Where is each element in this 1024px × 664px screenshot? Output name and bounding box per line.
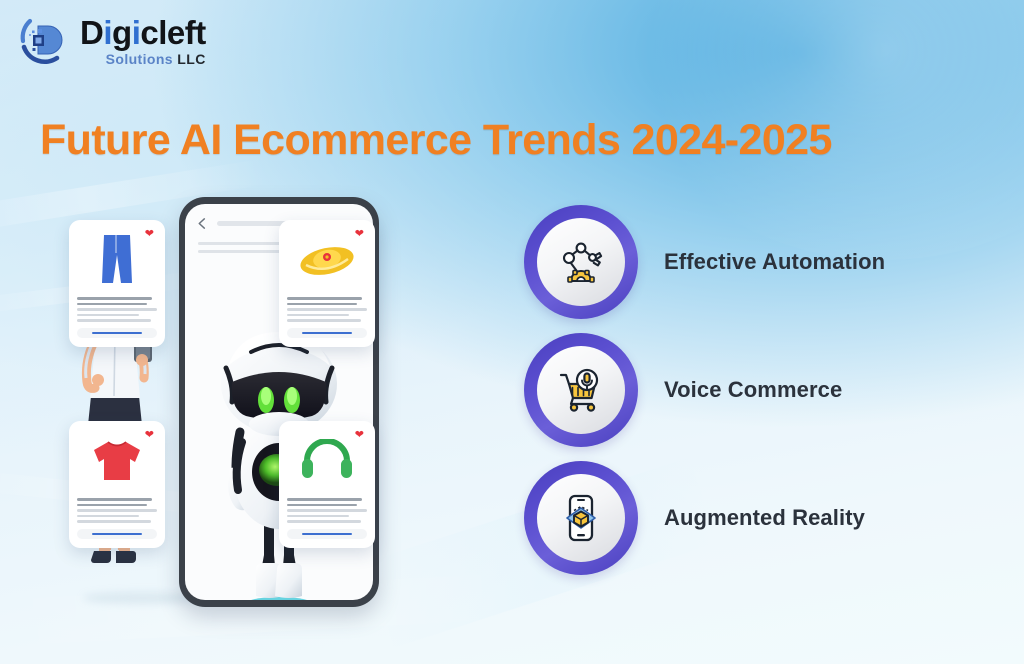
feature-item-effective-automation[interactable]: Effective Automation: [524, 205, 1014, 319]
brand-tagline: Solutions LLC: [80, 52, 206, 66]
product-text-lines: [287, 498, 367, 523]
product-thumbnail: ❤: [287, 228, 367, 290]
product-action-button[interactable]: [287, 328, 367, 338]
feature-label: Voice Commerce: [664, 377, 842, 403]
feature-label: Augmented Reality: [664, 505, 865, 531]
product-card-blue-jeans[interactable]: ❤: [69, 220, 165, 347]
sweater-icon: [88, 438, 146, 482]
product-thumbnail: ❤: [287, 429, 367, 491]
heart-icon[interactable]: ❤: [355, 430, 364, 441]
brand-wordmark: Digicleft Solutions LLC: [80, 14, 206, 66]
product-card-red-sweater[interactable]: ❤: [69, 421, 165, 548]
back-arrow-icon[interactable]: [196, 217, 209, 230]
feature-icon-ring: [524, 461, 638, 575]
digicleft-circular-d-logo-icon: [16, 12, 72, 68]
product-action-button[interactable]: [287, 529, 367, 539]
phone-ar-cube-icon: [537, 474, 625, 562]
product-action-button[interactable]: [77, 529, 157, 539]
brand-logo[interactable]: Digicleft Solutions LLC: [16, 12, 206, 68]
hero-illustration: ❤ ❤: [55, 180, 475, 620]
shopping-cart-microphone-icon: [537, 346, 625, 434]
heart-icon[interactable]: ❤: [145, 430, 154, 441]
page-title: Future AI Ecommerce Trends 2024-2025: [40, 116, 990, 165]
feature-item-augmented-reality[interactable]: Augmented Reality: [524, 461, 1014, 575]
feature-label: Effective Automation: [664, 249, 885, 275]
jeans-icon: [97, 233, 137, 285]
product-text-lines: [77, 498, 157, 523]
headphones-icon: [300, 439, 354, 481]
robotic-arm-gear-icon: [537, 218, 625, 306]
product-thumbnail: ❤: [77, 429, 157, 491]
heart-icon[interactable]: ❤: [355, 229, 364, 240]
product-text-lines: [287, 297, 367, 322]
sun-hat-icon: [298, 239, 356, 279]
product-action-button[interactable]: [77, 328, 157, 338]
product-card-green-headphones[interactable]: ❤: [279, 421, 375, 548]
product-card-yellow-sun-hat[interactable]: ❤: [279, 220, 375, 347]
feature-icon-ring: [524, 205, 638, 319]
product-thumbnail: ❤: [77, 228, 157, 290]
heart-icon[interactable]: ❤: [145, 229, 154, 240]
feature-list: Effective Automation: [524, 205, 1014, 575]
brand-name: Digicleft: [80, 16, 206, 49]
product-text-lines: [77, 297, 157, 322]
feature-icon-ring: [524, 333, 638, 447]
feature-item-voice-commerce[interactable]: Voice Commerce: [524, 333, 1014, 447]
